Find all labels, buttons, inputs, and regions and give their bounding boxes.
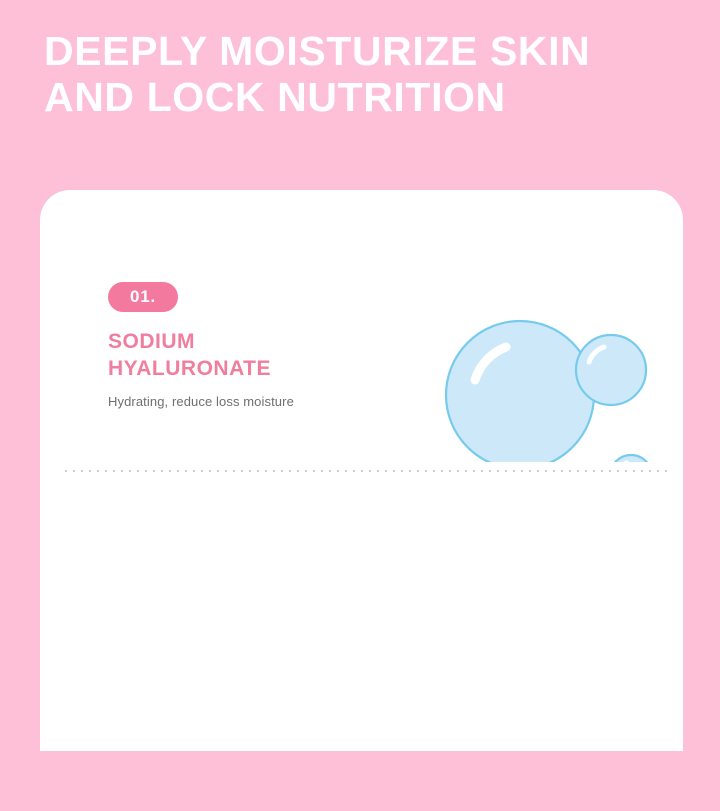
ingredient-row-02: 02. BUTYROSPERMUM PARKII (SHEA) BUTTER E… xyxy=(40,471,683,751)
ingredient-number-badge-01: 01. xyxy=(108,282,178,312)
page-title: DEEPLY MOISTURIZE SKIN AND LOCK NUTRITIO… xyxy=(44,28,684,120)
ingredient-text-01: 01. SODIUM HYALURONATE Hydrating, reduce… xyxy=(108,282,398,411)
ingredient-description-01: Hydrating, reduce loss moisture xyxy=(108,392,398,411)
ingredient-row-01: 01. SODIUM HYALURONATE Hydrating, reduce… xyxy=(40,190,683,470)
ingredients-card: 01. SODIUM HYALURONATE Hydrating, reduce… xyxy=(40,190,683,751)
water-bubbles-illustration xyxy=(395,232,665,462)
bubble-large-icon xyxy=(446,321,594,462)
bubble-medium-icon xyxy=(576,335,646,405)
bubble-small-icon xyxy=(610,455,652,462)
ingredient-title-01: SODIUM HYALURONATE xyxy=(108,328,398,382)
